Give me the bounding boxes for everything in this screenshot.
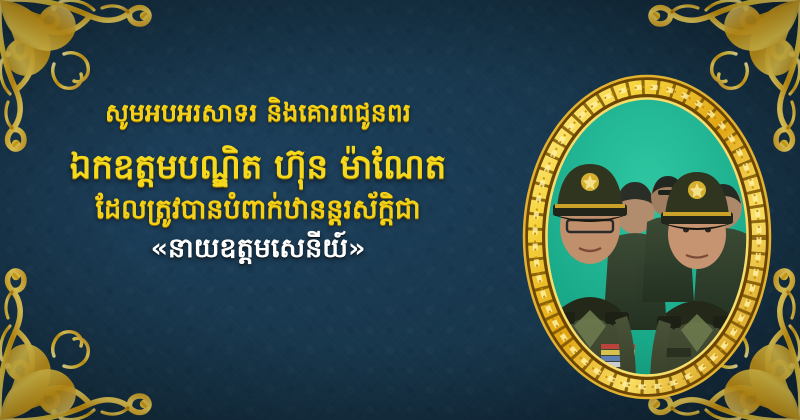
honoree-name-line: ឯកឧត្តមបណ្ឌិត ហ៊ុន ម៉ាណែត: [8, 147, 508, 188]
congratulation-poster: សូមអបអរសាទរ និងគោរពជូនពរ ឯកឧត្តមបណ្ឌិត ហ…: [0, 0, 800, 420]
message-block: សូមអបអរសាទរ និងគោរពជូនពរ ឯកឧត្តមបណ្ឌិត ហ…: [8, 98, 508, 266]
corner-ornament-bottom-left: [0, 251, 169, 420]
oval-photo-frame: [505, 62, 790, 412]
promotion-line: ដែលត្រូវបានបំពាក់ឋានន្តរស័ក្តិជា: [8, 194, 508, 227]
rank-line: «នាយឧត្តមសេនីយ៍»: [8, 233, 508, 266]
honoree-photo: [505, 62, 790, 412]
greeting-line: សូមអបអរសាទរ និងគោរពជូនពរ: [8, 98, 508, 129]
